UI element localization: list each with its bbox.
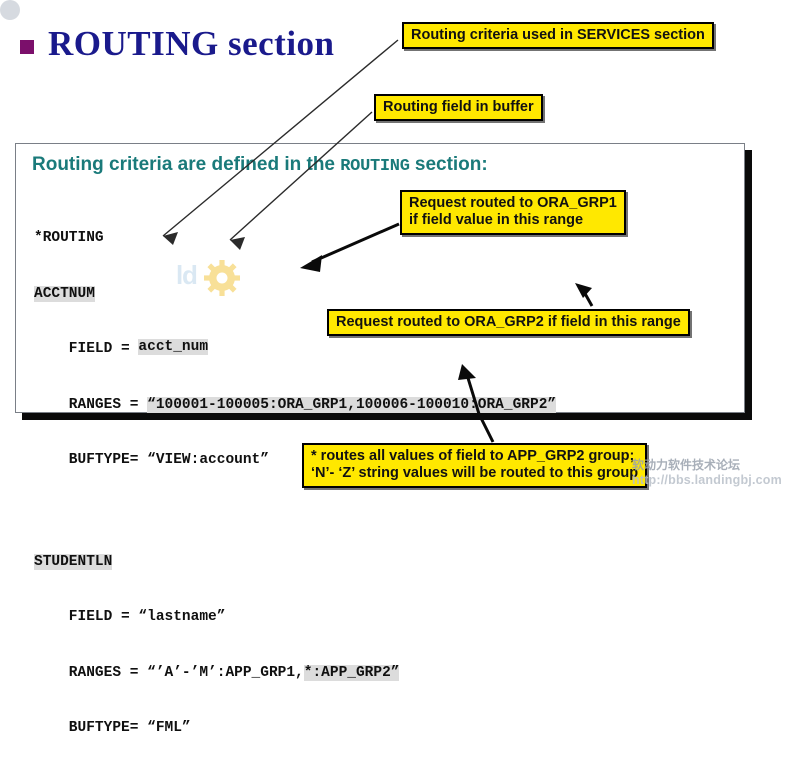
callout-ora-grp1-line2: if field value in this range <box>409 212 617 229</box>
code-value-plain: “’A’-’M’:APP_GRP1, <box>147 665 304 681</box>
code-text: *ROUTING <box>34 230 104 246</box>
callout-routing-field-label: Routing field in buffer <box>383 99 534 115</box>
code-line-acctnum-ranges: RANGES = “100001-100005:ORA_GRP1,100006-… <box>34 396 556 415</box>
code-value: “FML” <box>147 720 191 736</box>
callout-routing-field[interactable]: Routing field in buffer <box>374 94 543 121</box>
panel-heading-suffix: section: <box>410 154 488 175</box>
code-prefix: FIELD = <box>34 341 138 357</box>
code-prefix: FIELD = <box>34 609 138 625</box>
panel-heading-keyword: ROUTING <box>340 157 409 176</box>
page-title-label: ROUTING section <box>48 24 335 64</box>
code-value: “100001-100005:ORA_GRP1,100006-100010:OR… <box>147 397 556 413</box>
callout-services-section[interactable]: Routing criteria used in SERVICES sectio… <box>402 22 714 49</box>
code-prefix: BUFTYPE= <box>34 452 147 468</box>
code-line-acctnum-field: FIELD = acct_num <box>34 340 556 359</box>
callout-star-line1: * routes all values of field to APP_GRP2… <box>311 448 638 465</box>
code-prefix: RANGES = <box>34 397 147 413</box>
forum-logo-watermark-icon <box>0 0 20 20</box>
code-text: ACCTNUM <box>34 286 95 302</box>
code-line-studentln-buftype: BUFTYPE= “FML” <box>34 719 556 738</box>
code-line-acctnum: ACCTNUM <box>34 285 556 304</box>
panel-heading: Routing criteria are defined in the ROUT… <box>32 154 488 176</box>
forum-watermark: 软动力软件技术论坛 http://bbs.landingbj.com <box>632 458 782 488</box>
code-value: *:APP_GRP2” <box>304 665 400 681</box>
forum-watermark-url: http://bbs.landingbj.com <box>632 473 782 488</box>
code-line-studentln-field: FIELD = “lastname” <box>34 608 556 627</box>
code-line-studentln-ranges: RANGES = “’A’-’M’:APP_GRP1,*:APP_GRP2” <box>34 664 556 683</box>
panel-heading-prefix: Routing criteria are defined in the <box>32 154 340 175</box>
code-prefix: RANGES = <box>34 665 147 681</box>
callout-ora-grp2[interactable]: Request routed to ORA_GRP2 if field in t… <box>327 309 690 336</box>
callout-star-wildcard[interactable]: * routes all values of field to APP_GRP2… <box>302 443 647 488</box>
code-blank-line <box>34 507 556 516</box>
page-title: ROUTING section <box>20 24 335 64</box>
code-value: “lastname” <box>138 609 225 625</box>
code-line-studentln: STUDENTLN <box>34 553 556 572</box>
slide-canvas: ROUTING section Routing criteria are def… <box>0 0 812 503</box>
code-prefix: BUFTYPE= <box>34 720 147 736</box>
callout-ora-grp2-label: Request routed to ORA_GRP2 if field in t… <box>336 314 681 330</box>
routing-example-panel: Routing criteria are defined in the ROUT… <box>15 143 745 413</box>
callout-star-line2: ‘N’- ‘Z’ string values will be routed to… <box>311 465 638 482</box>
forum-watermark-name: 软动力软件技术论坛 <box>632 458 782 473</box>
callout-services-label: Routing criteria used in SERVICES sectio… <box>411 27 705 43</box>
code-text: STUDENTLN <box>34 554 112 570</box>
callout-ora-grp1-line1: Request routed to ORA_GRP1 <box>409 195 617 212</box>
code-value: acct_num <box>138 339 208 355</box>
callout-ora-grp1[interactable]: Request routed to ORA_GRP1 if field valu… <box>400 190 626 235</box>
bullet-square-icon <box>20 40 34 54</box>
code-value: “VIEW:account” <box>147 452 269 468</box>
